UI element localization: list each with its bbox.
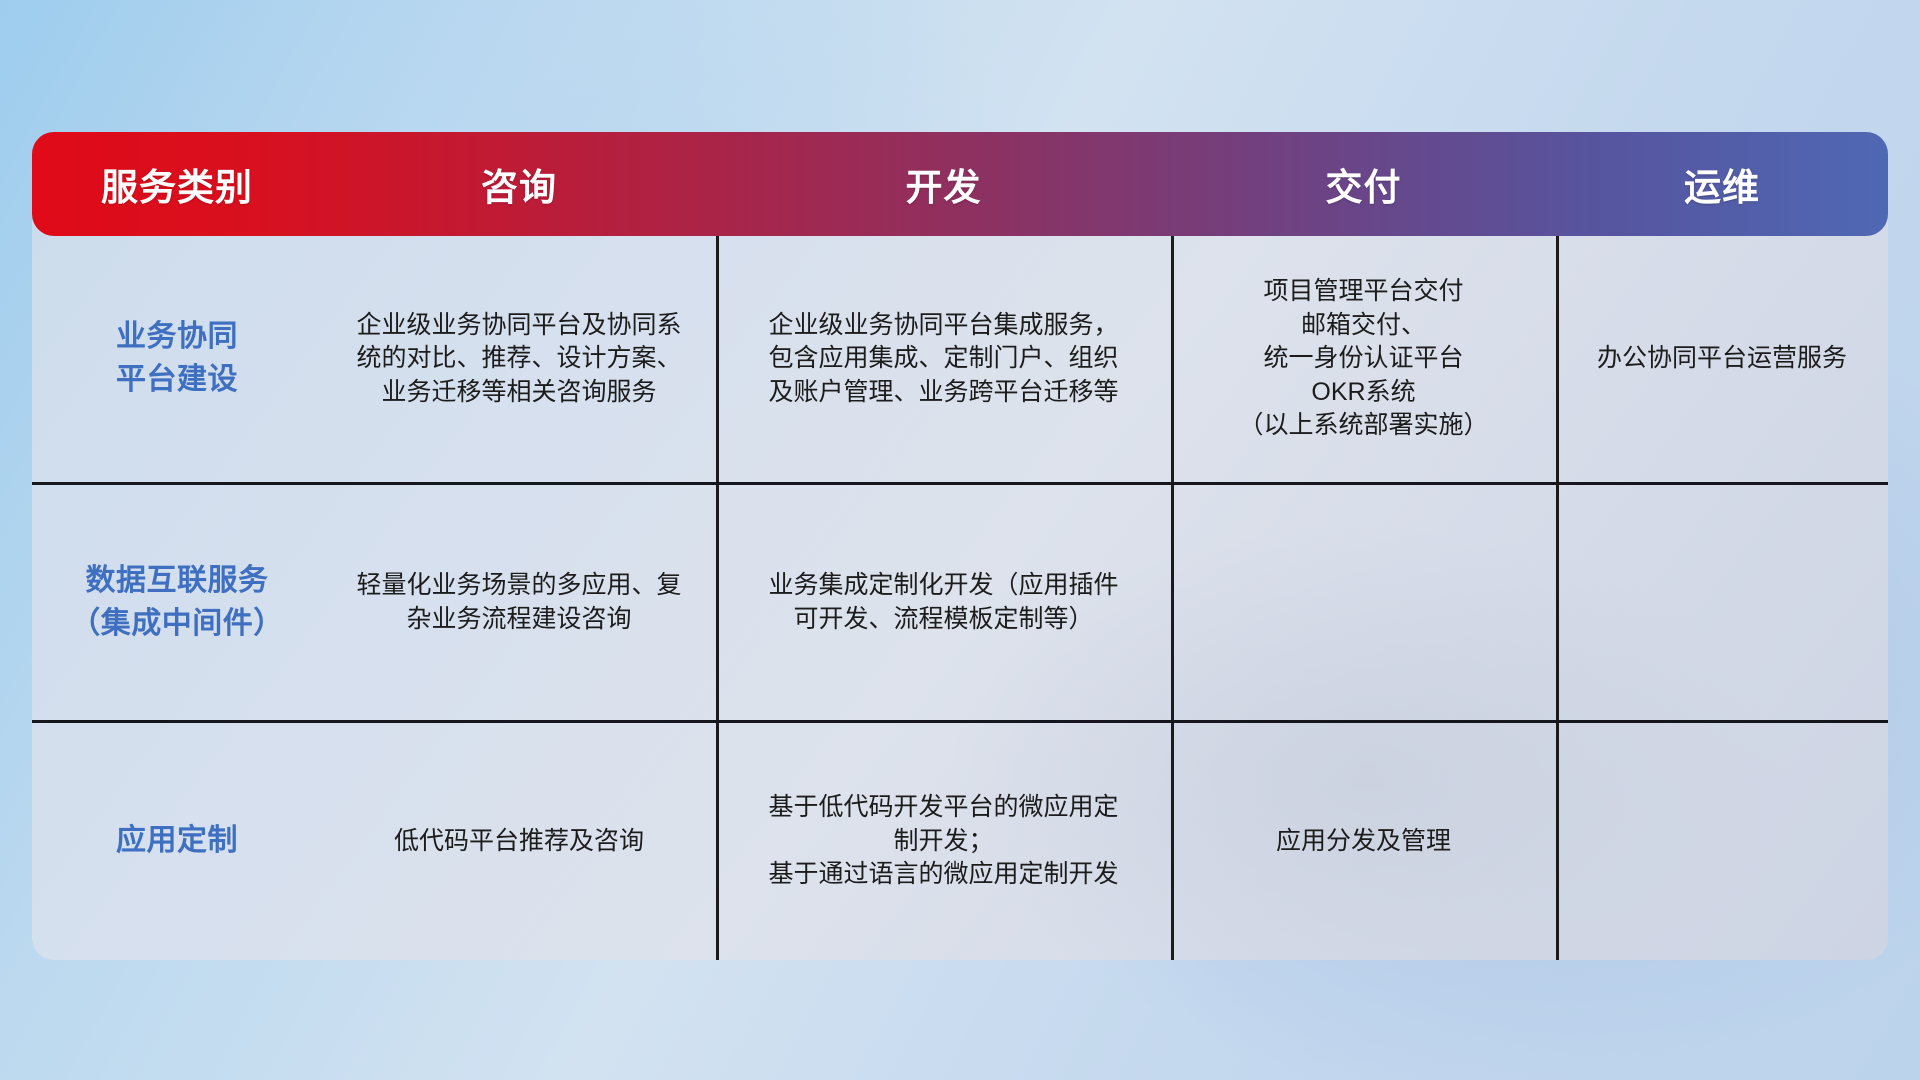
column-divider	[716, 236, 719, 960]
cell-delivery: 项目管理平台交付 邮箱交付、 统一身份认证平台 OKR系统 （以上系统部署实施）	[1171, 275, 1556, 443]
column-header-consulting: 咨询	[322, 157, 716, 211]
table-row: 业务协同 平台建设 企业级业务协同平台及协同系 统的对比、推荐、设计方案、 业务…	[32, 236, 1888, 482]
row-category-label: 应用定制	[32, 820, 322, 863]
cell-consulting: 低代码平台推荐及咨询	[322, 825, 716, 859]
cell-development: 业务集成定制化开发（应用插件 可开发、流程模板定制等）	[716, 569, 1171, 636]
column-divider	[1556, 236, 1559, 960]
column-divider	[1171, 236, 1174, 960]
cell-development: 基于低代码开发平台的微应用定 制开发； 基于通过语言的微应用定制开发	[716, 791, 1171, 892]
cell-development: 企业级业务协同平台集成服务， 包含应用集成、定制门户、组织 及账户管理、业务跨平…	[716, 309, 1171, 410]
row-divider	[32, 720, 1888, 723]
column-header-development: 开发	[716, 157, 1171, 211]
table-row: 应用定制 低代码平台推荐及咨询 基于低代码开发平台的微应用定 制开发； 基于通过…	[32, 723, 1888, 960]
column-header-delivery: 交付	[1171, 157, 1556, 211]
row-divider	[32, 482, 1888, 485]
table-row: 数据互联服务 （集成中间件） 轻量化业务场景的多应用、复 杂业务流程建设咨询 业…	[32, 485, 1888, 720]
cell-operations: 办公协同平台运营服务	[1556, 342, 1888, 376]
row-category-label: 数据互联服务 （集成中间件）	[32, 560, 322, 645]
column-header-operations: 运维	[1556, 157, 1888, 211]
cell-consulting: 轻量化业务场景的多应用、复 杂业务流程建设咨询	[322, 569, 716, 636]
row-category-label: 业务协同 平台建设	[32, 316, 322, 401]
table-header-row: 服务类别 咨询 开发 交付 运维	[32, 132, 1888, 236]
cell-delivery: 应用分发及管理	[1171, 825, 1556, 859]
column-header-service-category: 服务类别	[32, 157, 322, 211]
service-matrix-table: 服务类别 咨询 开发 交付 运维 业务协同 平台建设 企业级业务协同平台及协同系…	[32, 132, 1888, 960]
cell-consulting: 企业级业务协同平台及协同系 统的对比、推荐、设计方案、 业务迁移等相关咨询服务	[322, 309, 716, 410]
